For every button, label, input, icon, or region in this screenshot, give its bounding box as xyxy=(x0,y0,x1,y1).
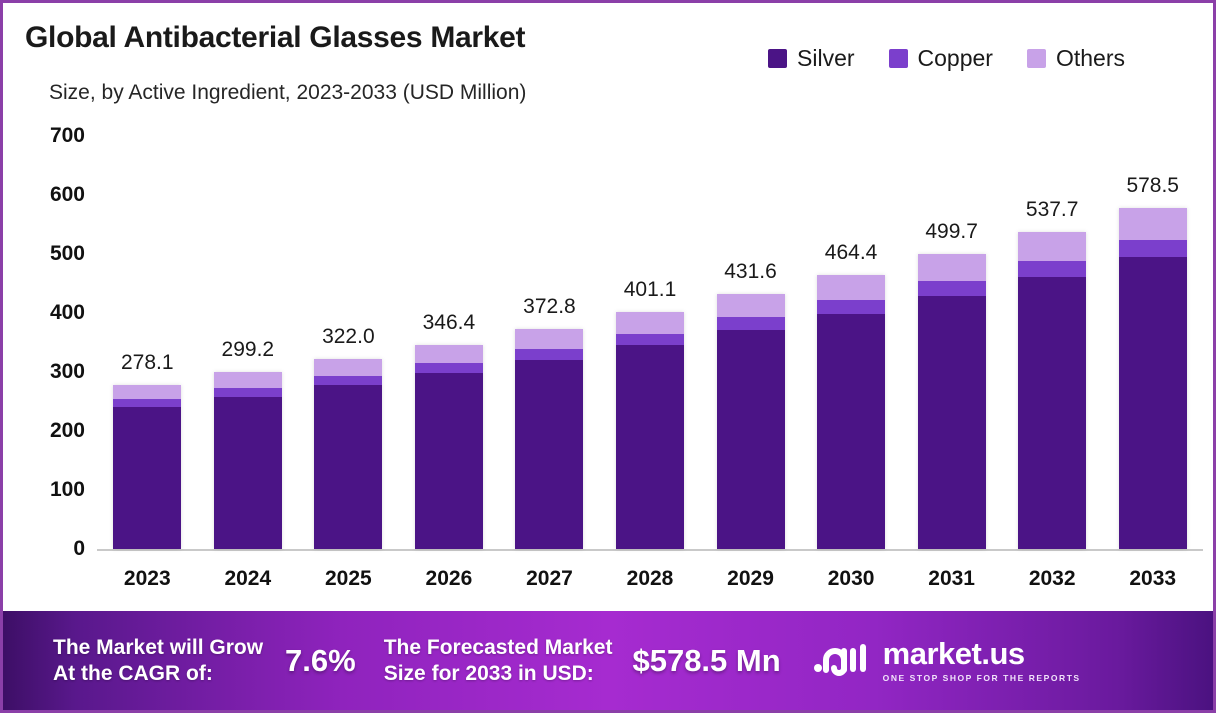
bar-segment-silver xyxy=(616,345,684,549)
bar-segment-silver xyxy=(314,385,382,549)
bar-segment-silver xyxy=(415,373,483,549)
bar-value-label: 346.4 xyxy=(423,311,476,335)
bar-segment-others xyxy=(918,254,986,281)
bar-2028[interactable] xyxy=(616,312,684,549)
bar-value-label: 299.2 xyxy=(222,338,275,362)
bar-segment-silver xyxy=(113,407,181,549)
legend-item-others[interactable]: Others xyxy=(1027,45,1125,72)
bar-segment-silver xyxy=(214,397,282,549)
bar-2033[interactable] xyxy=(1119,208,1187,549)
bar-segment-copper xyxy=(214,388,282,397)
market-us-logo[interactable]: market.us ONE STOP SHOP FOR THE REPORTS xyxy=(813,638,1081,683)
bar-segment-silver xyxy=(918,296,986,549)
legend-label: Copper xyxy=(918,45,993,72)
bar-segment-others xyxy=(314,359,382,376)
bar-segment-others xyxy=(717,294,785,317)
x-axis-label-2029: 2029 xyxy=(727,567,774,591)
bar-segment-silver xyxy=(817,314,885,549)
bar-value-label: 401.1 xyxy=(624,278,677,302)
y-axis: 0100200300400500600700 xyxy=(3,121,95,611)
x-axis-label-2032: 2032 xyxy=(1029,567,1076,591)
infographic-root: Global Antibacterial Glasses Market Size… xyxy=(0,0,1216,713)
x-axis-label-2023: 2023 xyxy=(124,567,171,591)
bar-value-label: 499.7 xyxy=(925,220,978,244)
bar-2031[interactable] xyxy=(918,254,986,549)
chart-legend: SilverCopperOthers xyxy=(768,45,1125,72)
bar-segment-copper xyxy=(1119,240,1187,257)
x-axis-label-2030: 2030 xyxy=(828,567,875,591)
bar-value-label: 278.1 xyxy=(121,351,174,375)
bar-segment-silver xyxy=(1119,257,1187,549)
forecast-value: $578.5 Mn xyxy=(632,643,780,679)
bar-2023[interactable] xyxy=(113,385,181,549)
bar-segment-others xyxy=(113,385,181,399)
bar-segment-others xyxy=(214,372,282,387)
x-axis-label-2033: 2033 xyxy=(1129,567,1176,591)
legend-item-silver[interactable]: Silver xyxy=(768,45,855,72)
x-axis-label-2031: 2031 xyxy=(928,567,975,591)
bar-segment-copper xyxy=(817,300,885,314)
bars-container: 278.12023299.22024322.02025346.42026372.… xyxy=(97,121,1203,611)
forecast-caption: The Forecasted Market Size for 2033 in U… xyxy=(384,635,613,686)
bar-segment-copper xyxy=(616,334,684,346)
bar-segment-silver xyxy=(717,330,785,549)
bar-2030[interactable] xyxy=(817,275,885,549)
x-axis-label-2026: 2026 xyxy=(426,567,473,591)
x-axis-label-2027: 2027 xyxy=(526,567,573,591)
x-axis-label-2025: 2025 xyxy=(325,567,372,591)
legend-item-copper[interactable]: Copper xyxy=(889,45,993,72)
bar-value-label: 578.5 xyxy=(1126,174,1179,198)
legend-label: Others xyxy=(1056,45,1125,72)
bar-segment-copper xyxy=(515,349,583,360)
page-title: Global Antibacterial Glasses Market xyxy=(25,21,525,55)
bar-value-label: 464.4 xyxy=(825,241,878,265)
bar-segment-silver xyxy=(515,360,583,549)
bar-segment-copper xyxy=(415,363,483,373)
footer-banner: The Market will Grow At the CAGR of: 7.6… xyxy=(3,611,1213,710)
bar-2027[interactable] xyxy=(515,329,583,549)
bar-segment-copper xyxy=(918,281,986,296)
bar-segment-others xyxy=(515,329,583,349)
bar-segment-copper xyxy=(113,399,181,407)
chart-plot-area: 0100200300400500600700 278.12023299.2202… xyxy=(3,121,1216,611)
bar-segment-others xyxy=(1119,208,1187,240)
bar-2025[interactable] xyxy=(314,359,382,549)
logo-name: market.us xyxy=(883,638,1025,669)
bar-2026[interactable] xyxy=(415,345,483,549)
logo-tagline: ONE STOP SHOP FOR THE REPORTS xyxy=(883,673,1081,683)
y-axis-tick-label: 200 xyxy=(50,419,85,443)
bar-2032[interactable] xyxy=(1018,232,1086,549)
market-us-wordmark: market.us ONE STOP SHOP FOR THE REPORTS xyxy=(883,638,1081,683)
bar-value-label: 537.7 xyxy=(1026,198,1079,222)
bar-value-label: 431.6 xyxy=(724,260,777,284)
y-axis-tick-label: 300 xyxy=(50,360,85,384)
bar-segment-others xyxy=(1018,232,1086,261)
market-us-mark-icon xyxy=(813,638,871,683)
bar-segment-others xyxy=(415,345,483,363)
bar-segment-copper xyxy=(717,317,785,330)
bar-segment-copper xyxy=(1018,261,1086,277)
legend-swatch-icon xyxy=(889,49,908,68)
cagr-value: 7.6% xyxy=(285,643,356,679)
y-axis-tick-label: 600 xyxy=(50,183,85,207)
legend-label: Silver xyxy=(797,45,855,72)
bar-segment-others xyxy=(616,312,684,333)
bar-segment-silver xyxy=(1018,277,1086,549)
bar-segment-others xyxy=(817,275,885,300)
bar-2029[interactable] xyxy=(717,294,785,549)
y-axis-tick-label: 400 xyxy=(50,301,85,325)
chart-header: Global Antibacterial Glasses Market Size… xyxy=(3,3,1213,121)
bar-segment-copper xyxy=(314,376,382,385)
y-axis-tick-label: 100 xyxy=(50,478,85,502)
chart-subtitle: Size, by Active Ingredient, 2023-2033 (U… xyxy=(49,81,526,105)
legend-swatch-icon xyxy=(768,49,787,68)
x-axis-label-2024: 2024 xyxy=(224,567,271,591)
bar-value-label: 322.0 xyxy=(322,325,375,349)
y-axis-tick-label: 0 xyxy=(73,537,85,561)
bar-value-label: 372.8 xyxy=(523,295,576,319)
legend-swatch-icon xyxy=(1027,49,1046,68)
cagr-block: The Market will Grow At the CAGR of: 7.6… xyxy=(53,635,356,686)
y-axis-tick-label: 700 xyxy=(50,124,85,148)
x-axis-label-2028: 2028 xyxy=(627,567,674,591)
forecast-block: The Forecasted Market Size for 2033 in U… xyxy=(384,635,781,686)
cagr-caption: The Market will Grow At the CAGR of: xyxy=(53,635,263,686)
bar-2024[interactable] xyxy=(214,372,282,549)
y-axis-tick-label: 500 xyxy=(50,242,85,266)
